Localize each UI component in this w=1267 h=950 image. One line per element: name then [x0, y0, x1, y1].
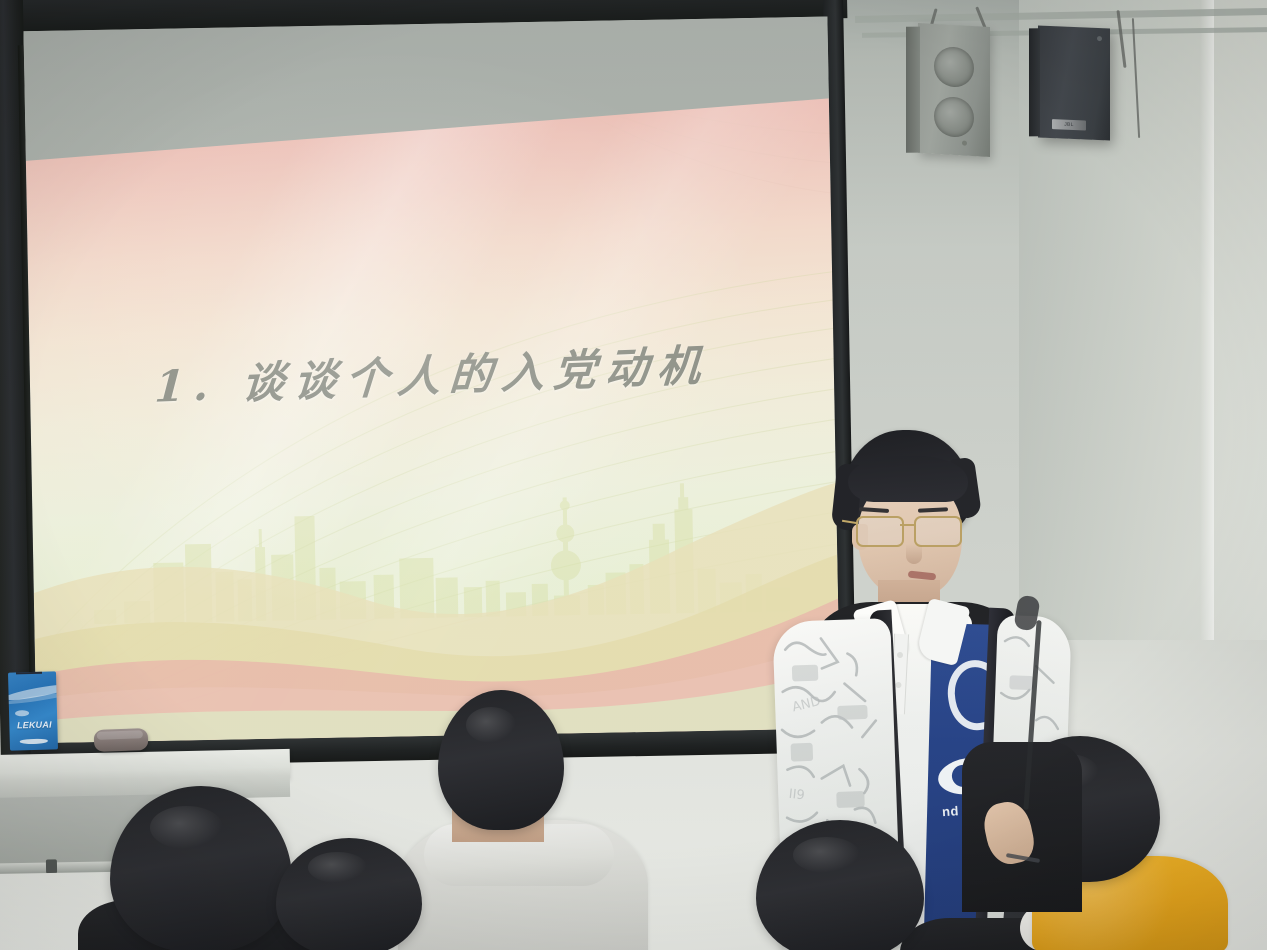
chalk-box-label: LEKUAI: [14, 717, 54, 732]
speaker-side-panel: [906, 27, 920, 153]
chalk-box[interactable]: LEKUAI: [8, 671, 58, 750]
projection-screen: 1. 谈谈个人的入党动机: [24, 17, 841, 744]
hair-highlight: [308, 852, 366, 883]
classroom-photo: JBL: [0, 0, 1267, 950]
chalk-box-underline-graphic: [20, 739, 48, 745]
glasses-bridge: [900, 524, 914, 526]
speaker-brand-badge: JBL: [1052, 119, 1086, 130]
wall-corner-highlight: [1200, 0, 1214, 700]
student-hoodie-gray-head: [438, 690, 564, 830]
slide-wave-decoration: [31, 428, 840, 743]
student-front-left-2-head: [276, 838, 422, 950]
shirt-button: [897, 652, 903, 658]
blackboard-eraser[interactable]: [94, 728, 149, 752]
hair-highlight: [793, 837, 860, 873]
svg-text:II9: II9: [788, 787, 805, 804]
chalk-box-cap: [16, 671, 42, 674]
right-speaker: JBL: [1038, 25, 1110, 140]
shirt-button: [895, 682, 901, 688]
svg-text:AND: AND: [791, 694, 822, 715]
glasses-lens: [856, 516, 904, 547]
blackboard-frame: 1. 谈谈个人的入党动机: [0, 0, 861, 780]
student-bottom-center-head: [756, 820, 924, 950]
hair-highlight: [466, 707, 516, 743]
presenter-fringe: [848, 456, 968, 502]
speaker-led-icon: [962, 140, 967, 145]
hair-highlight: [150, 806, 223, 849]
glasses-icon: [852, 516, 968, 546]
glasses-lens: [914, 516, 962, 547]
student-front-left-head: [110, 786, 292, 950]
left-speaker: [918, 23, 990, 157]
presenter-nose: [906, 544, 922, 564]
speaker-led-icon: [1097, 36, 1102, 41]
chalk-box-emblem: [15, 710, 29, 716]
speaker-side-panel: [1029, 28, 1040, 136]
speaker-driver-icon: [934, 46, 974, 88]
speaker-driver-icon: [934, 96, 974, 138]
